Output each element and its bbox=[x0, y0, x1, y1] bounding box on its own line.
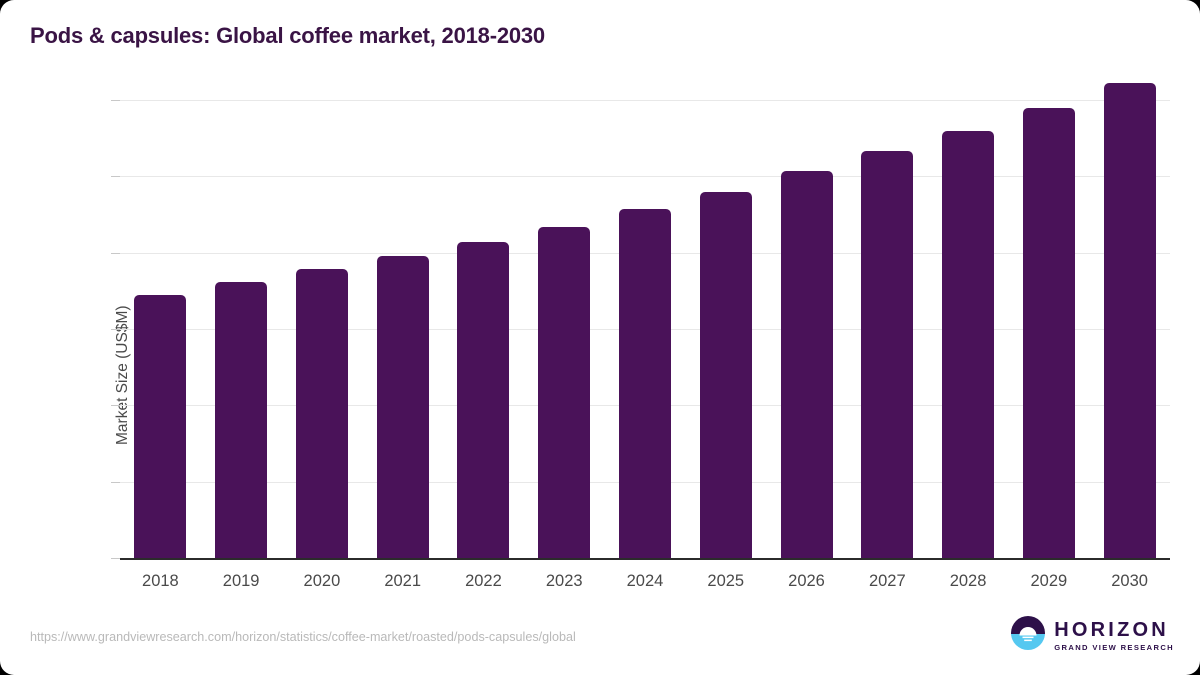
y-axis-title: Market Size (US$M) bbox=[114, 305, 132, 445]
y-tick-mark bbox=[111, 329, 120, 330]
x-tick-label-2030: 2030 bbox=[1089, 572, 1170, 591]
x-tick-label-2022: 2022 bbox=[443, 572, 524, 591]
logo-wordmark: HORIZON bbox=[1054, 620, 1174, 640]
x-tick-label-2023: 2023 bbox=[524, 572, 605, 591]
y-tick-mark bbox=[111, 482, 120, 483]
x-tick-label-2027: 2027 bbox=[847, 572, 928, 591]
x-tick-label-2029: 2029 bbox=[1008, 572, 1089, 591]
bar-2021[interactable] bbox=[377, 256, 429, 558]
y-tick-mark bbox=[111, 558, 120, 559]
x-tick-label-2020: 2020 bbox=[282, 572, 363, 591]
horizon-sunrise-circle-icon bbox=[1011, 616, 1045, 655]
x-tick-label-2028: 2028 bbox=[928, 572, 1009, 591]
y-tick-mark bbox=[111, 100, 120, 101]
bar-2027[interactable] bbox=[861, 151, 913, 558]
bar-2023[interactable] bbox=[538, 227, 590, 558]
bar-2019[interactable] bbox=[215, 282, 267, 558]
bar-2026[interactable] bbox=[781, 171, 833, 558]
bar-2020[interactable] bbox=[296, 269, 348, 558]
x-tick-label-2024: 2024 bbox=[605, 572, 686, 591]
y-tick-mark bbox=[111, 253, 120, 254]
chart-card: Pods & capsules: Global coffee market, 2… bbox=[0, 0, 1200, 675]
bar-2022[interactable] bbox=[457, 242, 509, 558]
bar-2029[interactable] bbox=[1023, 108, 1075, 558]
bar-2024[interactable] bbox=[619, 209, 671, 558]
gridline bbox=[120, 100, 1170, 101]
bar-2025[interactable] bbox=[700, 192, 752, 558]
x-tick-label-2026: 2026 bbox=[766, 572, 847, 591]
horizon-logo[interactable]: HORIZON GRAND VIEW RESEARCH bbox=[1011, 616, 1174, 655]
x-axis-line bbox=[120, 558, 1170, 560]
bar-2030[interactable] bbox=[1104, 83, 1156, 558]
x-tick-label-2021: 2021 bbox=[362, 572, 443, 591]
gridline bbox=[120, 176, 1170, 177]
source-url[interactable]: https://www.grandviewresearch.com/horizo… bbox=[30, 630, 576, 644]
plot-area: Market Size (US$M) 020k40k60k80k100k120k… bbox=[120, 100, 1170, 558]
y-tick-mark bbox=[111, 176, 120, 177]
y-tick-mark bbox=[111, 405, 120, 406]
logo-text: HORIZON GRAND VIEW RESEARCH bbox=[1054, 620, 1174, 652]
bar-2028[interactable] bbox=[942, 131, 994, 558]
bar-2018[interactable] bbox=[134, 295, 186, 558]
x-tick-label-2025: 2025 bbox=[685, 572, 766, 591]
x-tick-label-2019: 2019 bbox=[201, 572, 282, 591]
x-tick-label-2018: 2018 bbox=[120, 572, 201, 591]
chart-title: Pods & capsules: Global coffee market, 2… bbox=[30, 23, 545, 49]
logo-subtitle: GRAND VIEW RESEARCH bbox=[1054, 644, 1174, 652]
